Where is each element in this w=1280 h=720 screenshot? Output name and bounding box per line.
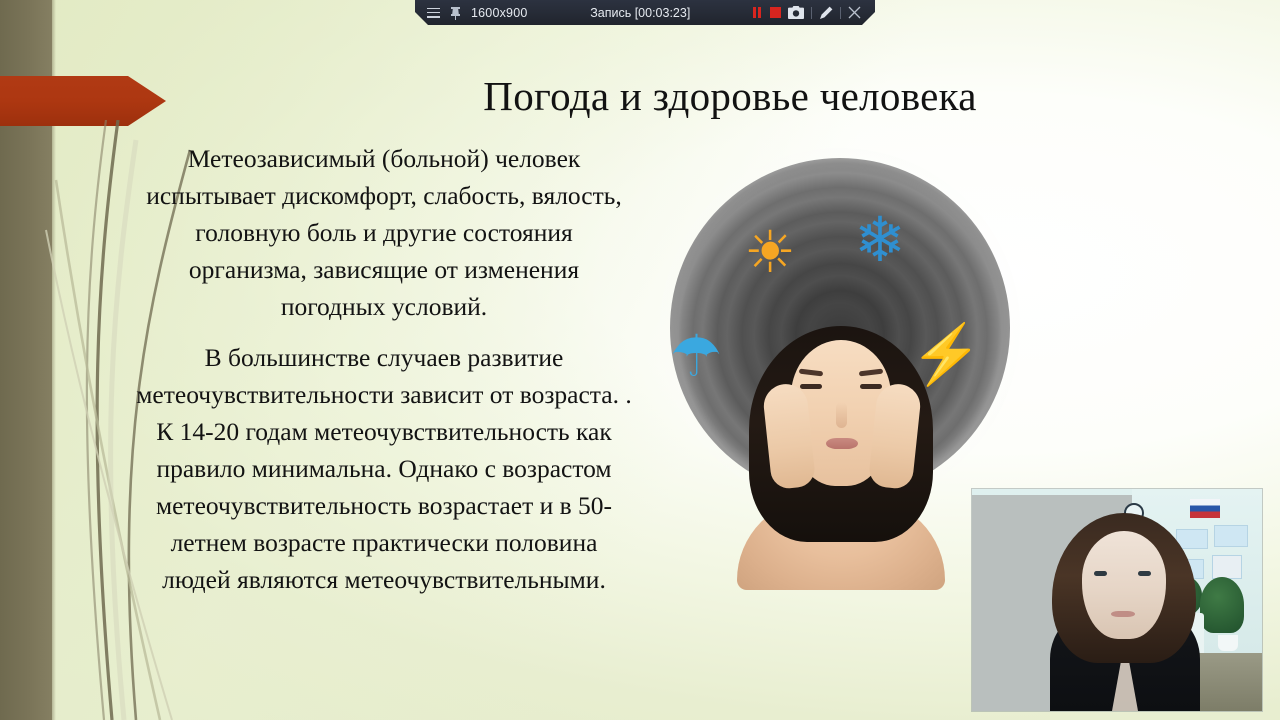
- paragraph-1: Метеозависимый (больной) человек испытыв…: [134, 140, 634, 325]
- screen-recorder-toolbar[interactable]: 1600x900 Запись [00:03:23]: [415, 0, 875, 25]
- recording-status: Запись [00:03:23]: [590, 6, 690, 20]
- toolbar-controls-group: [753, 6, 875, 20]
- woman-eye-right: [860, 384, 882, 389]
- toolbar-status-group: Запись [00:03:23]: [528, 6, 753, 20]
- woman-nose: [836, 402, 847, 428]
- pin-icon[interactable]: [450, 6, 461, 20]
- resolution-label: 1600x900: [471, 6, 528, 20]
- woman-mouth: [826, 438, 858, 449]
- presenter-face: [1082, 531, 1166, 639]
- wall-poster: [1214, 525, 1248, 547]
- paragraph-2: В большинстве случаев развитие метеочувс…: [134, 339, 634, 598]
- woman-eye-left: [800, 384, 822, 389]
- presenter-eye-right: [1138, 571, 1151, 576]
- webcam-overlay[interactable]: [972, 489, 1262, 711]
- flower-pot: [1218, 635, 1238, 651]
- potted-plant: [1200, 577, 1244, 633]
- wall-poster: [1212, 555, 1242, 579]
- presenter-eye-left: [1094, 571, 1107, 576]
- snow-cloud-icon: ❄: [854, 210, 906, 272]
- hamburger-menu-icon[interactable]: [427, 8, 440, 18]
- woman-headache-photo: [743, 326, 939, 568]
- camera-icon[interactable]: [788, 6, 804, 19]
- rain-cloud-icon: ☂: [670, 328, 722, 386]
- toolbar-separator-2: [840, 7, 841, 19]
- pause-icon[interactable]: [753, 7, 763, 18]
- toolbar-left-group: 1600x900: [415, 6, 528, 20]
- russian-flag-poster: [1190, 499, 1220, 518]
- slide-body-text: Метеозависимый (больной) человек испытыв…: [134, 140, 634, 598]
- toolbar-separator-1: [811, 7, 812, 19]
- sun-icon: ☀: [744, 224, 796, 282]
- page-title: Погода и здоровье человека: [300, 72, 1160, 120]
- close-icon[interactable]: [848, 6, 861, 19]
- pencil-icon[interactable]: [819, 6, 833, 20]
- stop-icon[interactable]: [770, 7, 781, 18]
- presenter-mouth: [1111, 611, 1135, 617]
- screen: Погода и здоровье человека Метеозависимы…: [0, 0, 1280, 720]
